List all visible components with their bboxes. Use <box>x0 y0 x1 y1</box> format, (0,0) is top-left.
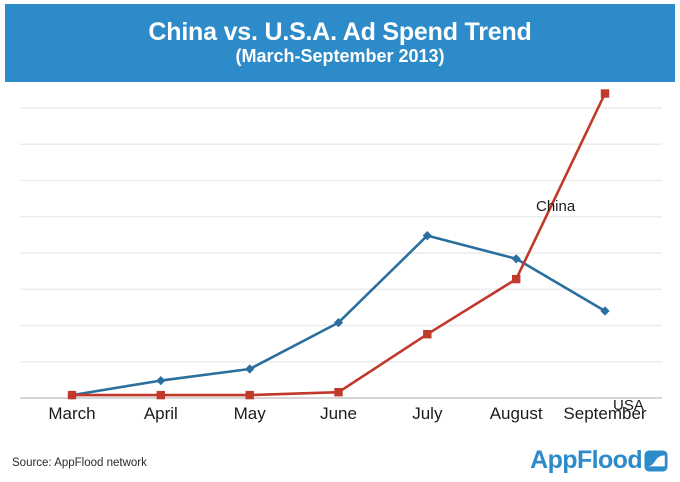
data-point-marker <box>156 376 165 385</box>
line-chart-svg <box>0 86 680 402</box>
x-tick-label: June <box>320 404 357 424</box>
chart-header-banner: China vs. U.S.A. Ad Spend Trend (March-S… <box>5 4 675 82</box>
x-tick-label: May <box>234 404 266 424</box>
chart-page: China vs. U.S.A. Ad Spend Trend (March-S… <box>0 0 680 482</box>
x-axis-tick-labels: MarchAprilMayJuneJulyAugustSeptember <box>0 404 680 430</box>
data-point-marker <box>423 330 431 338</box>
data-point-marker <box>512 275 520 283</box>
x-tick-label: September <box>563 404 646 424</box>
x-tick-label: March <box>48 404 95 424</box>
chart-series-group <box>67 89 609 399</box>
brand-wordmark: AppFlood <box>530 448 642 473</box>
data-point-marker <box>68 391 76 399</box>
source-note: Source: AppFlood network <box>12 457 147 469</box>
data-point-marker <box>245 364 254 373</box>
data-point-marker <box>334 388 342 396</box>
page-title: China vs. U.S.A. Ad Spend Trend <box>148 19 531 45</box>
wave-square-icon <box>644 449 668 473</box>
chart-plot-area: China USA <box>0 86 680 402</box>
series-label-china: China <box>536 198 575 215</box>
appflood-logo: AppFlood <box>530 448 668 473</box>
data-point-marker <box>157 391 165 399</box>
x-tick-label: April <box>144 404 178 424</box>
data-point-marker <box>601 89 609 97</box>
page-subtitle: (March-September 2013) <box>235 47 444 67</box>
x-tick-label: August <box>490 404 543 424</box>
series-line-china <box>72 94 605 396</box>
data-point-marker <box>246 391 254 399</box>
chart-footer: Source: AppFlood network AppFlood <box>0 444 680 482</box>
x-tick-label: July <box>412 404 442 424</box>
